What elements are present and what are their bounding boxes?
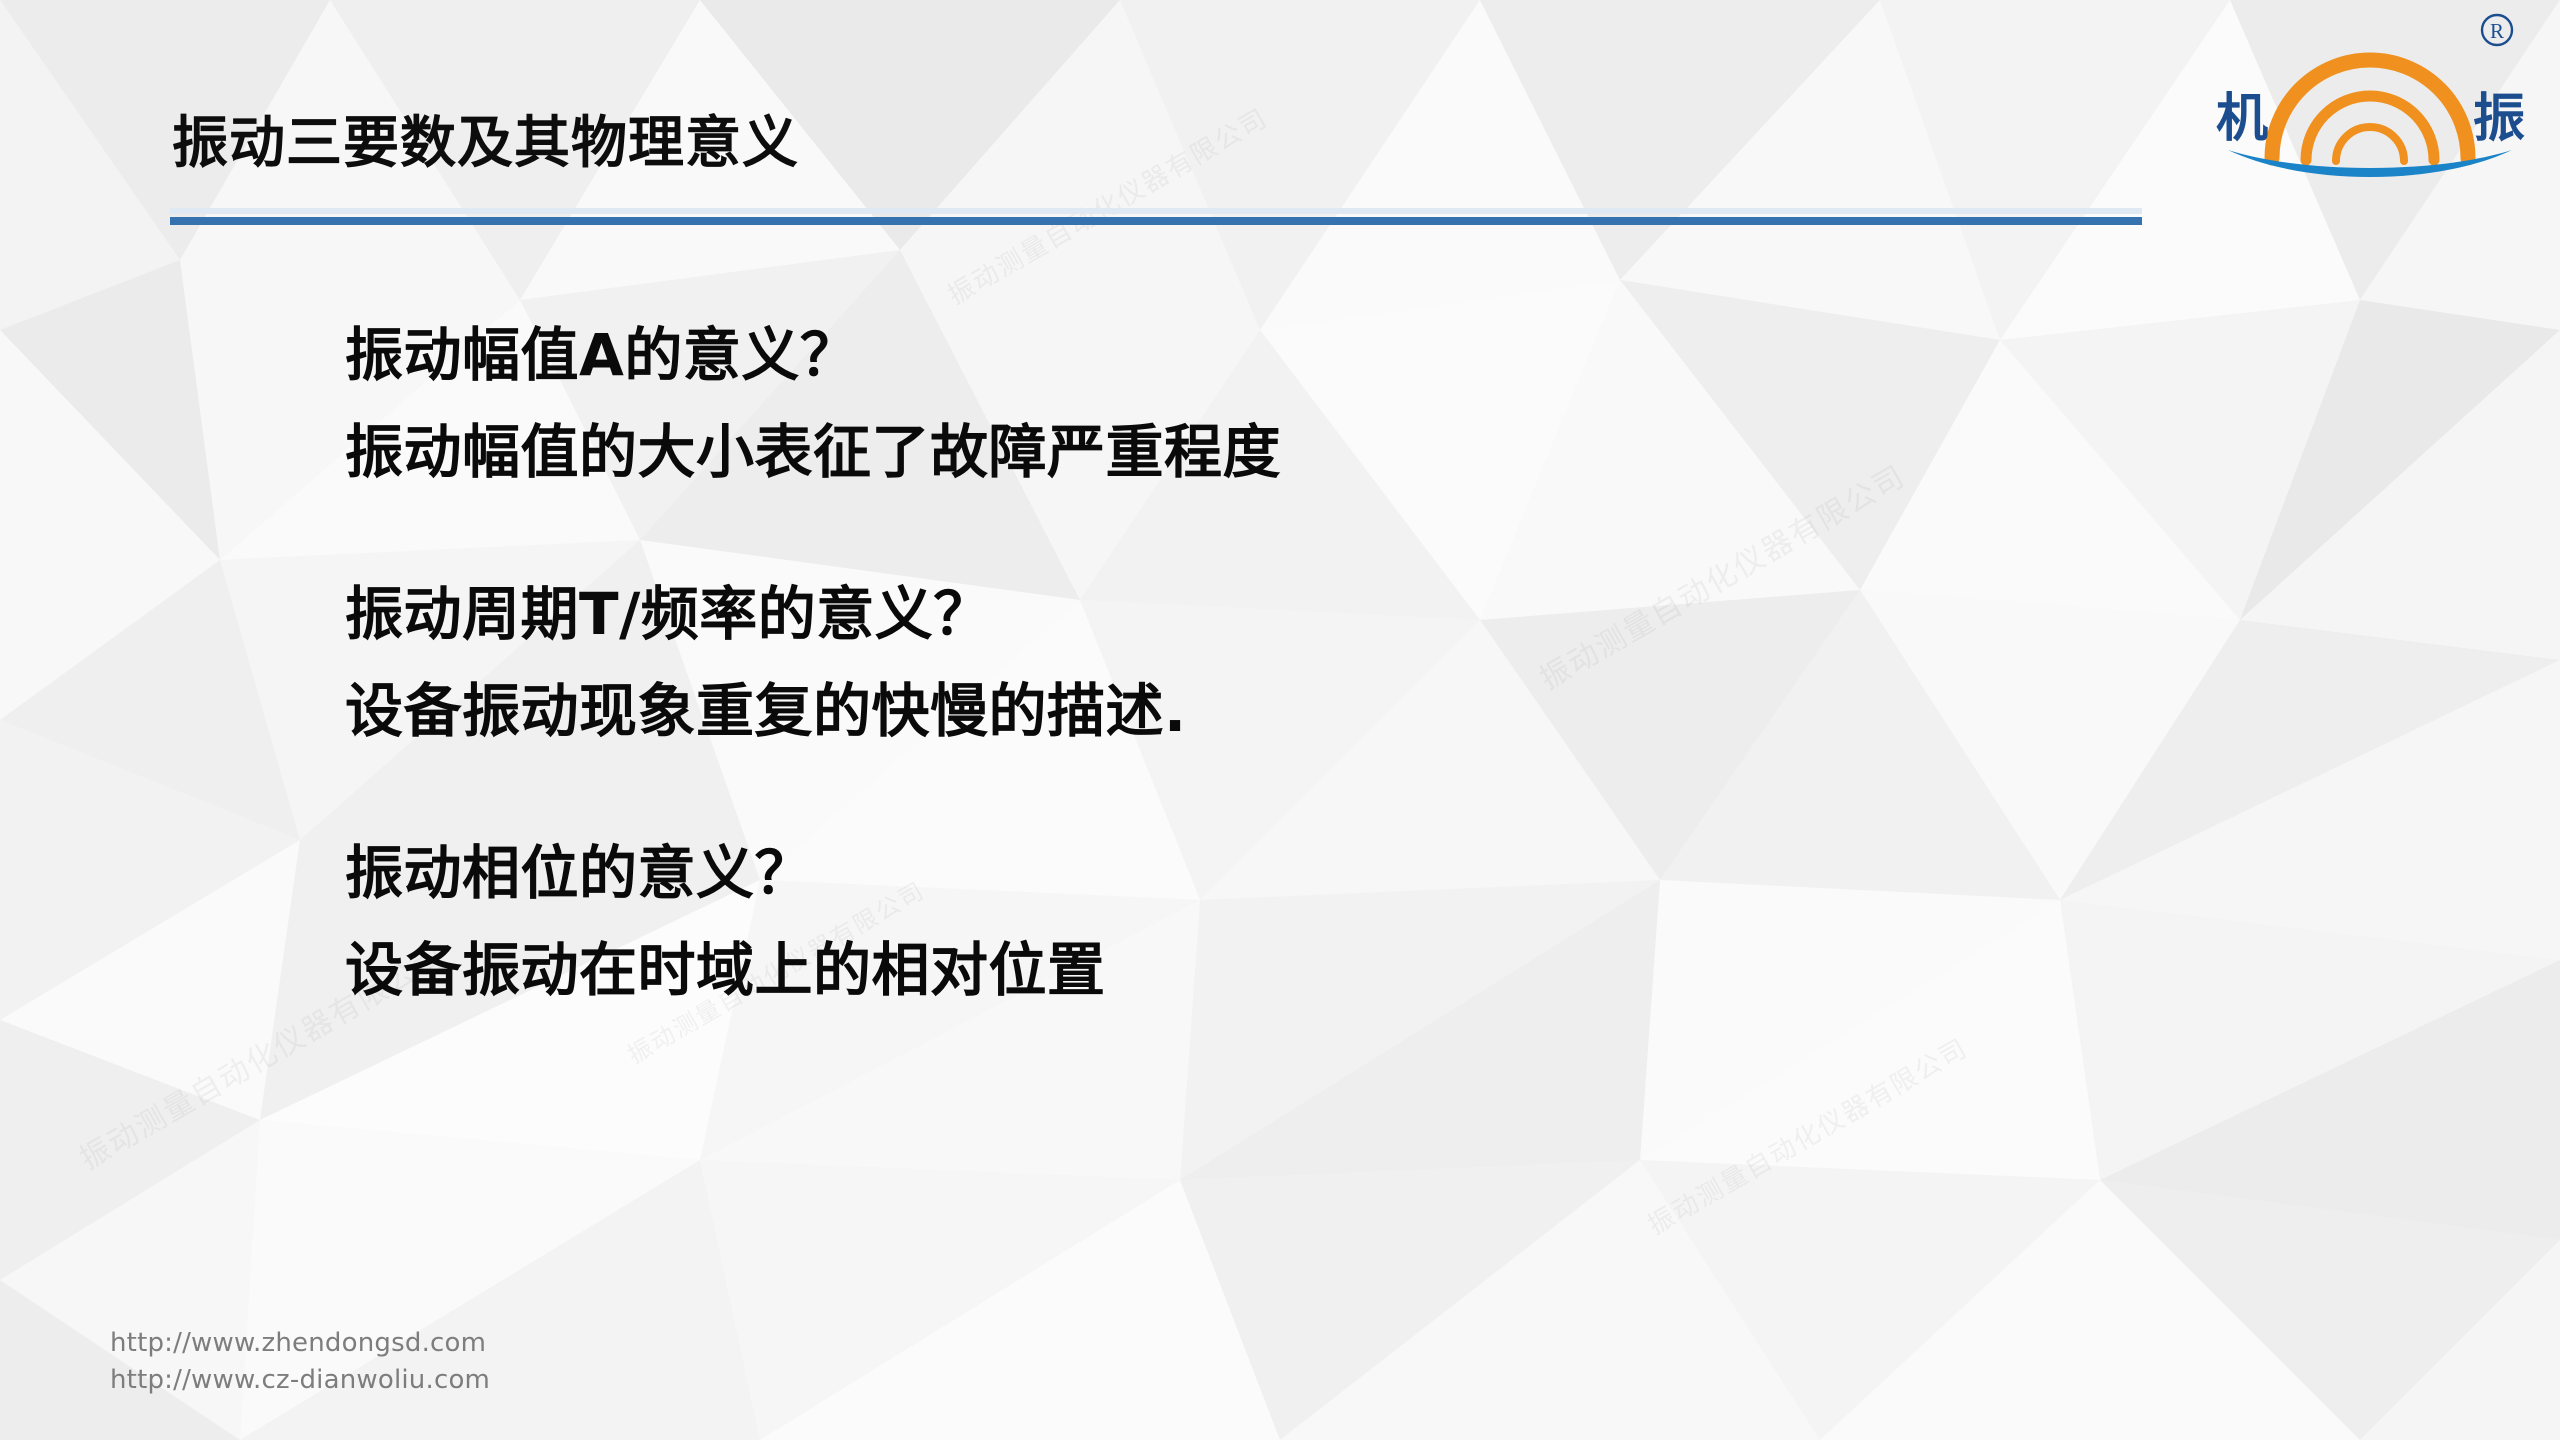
question-line: 振动周期T/频率的意义？ xyxy=(345,577,2245,652)
question-line: 振动幅值A的意义？ xyxy=(345,318,2245,393)
logo-character-left: 机 xyxy=(2216,89,2268,149)
logo-arc-inner xyxy=(2336,127,2404,161)
answer-line: 设备振动现象重复的快慢的描述. xyxy=(345,674,2245,749)
registered-trademark-icon: R xyxy=(2482,15,2512,45)
logo-character-right: 振 xyxy=(2473,89,2525,149)
answer-line: 设备振动在时域上的相对位置 xyxy=(345,933,2245,1008)
title-divider xyxy=(170,208,2142,224)
footer-url-secondary[interactable]: http://www.cz-dianwoliu.com xyxy=(110,1362,490,1400)
slide-footer: http://www.zhendongsd.com http://www.cz-… xyxy=(110,1325,490,1400)
title-divider-highlight xyxy=(170,208,2142,214)
footer-url-primary[interactable]: http://www.zhendongsd.com xyxy=(110,1325,490,1363)
content-block-amplitude: 振动幅值A的意义？ 振动幅值的大小表征了故障严重程度 xyxy=(345,318,2245,491)
company-logo: R 机 振 xyxy=(2194,8,2546,184)
title-divider-bar xyxy=(170,217,2142,225)
page-title: 振动三要数及其物理意义 xyxy=(172,98,799,179)
presentation-slide: 振动测量自动化仪器有限公司 振动测量自动化仪器有限公司 振动测量自动化仪器有限公… xyxy=(0,0,2560,1440)
content-block-phase: 振动相位的意义？ 设备振动在时域上的相对位置 xyxy=(345,836,2245,1009)
content-block-period-frequency: 振动周期T/频率的意义？ 设备振动现象重复的快慢的描述. xyxy=(345,577,2245,750)
question-line: 振动相位的意义？ xyxy=(345,836,2245,911)
svg-text:R: R xyxy=(2490,19,2504,43)
slide-header: 振动三要数及其物理意义 R 机 xyxy=(0,0,2560,240)
logo-arc-outer xyxy=(2272,60,2468,158)
slide-body: 振动幅值A的意义？ 振动幅值的大小表征了故障严重程度 振动周期T/频率的意义？ … xyxy=(345,318,2245,1008)
answer-line: 振动幅值的大小表征了故障严重程度 xyxy=(345,415,2245,490)
